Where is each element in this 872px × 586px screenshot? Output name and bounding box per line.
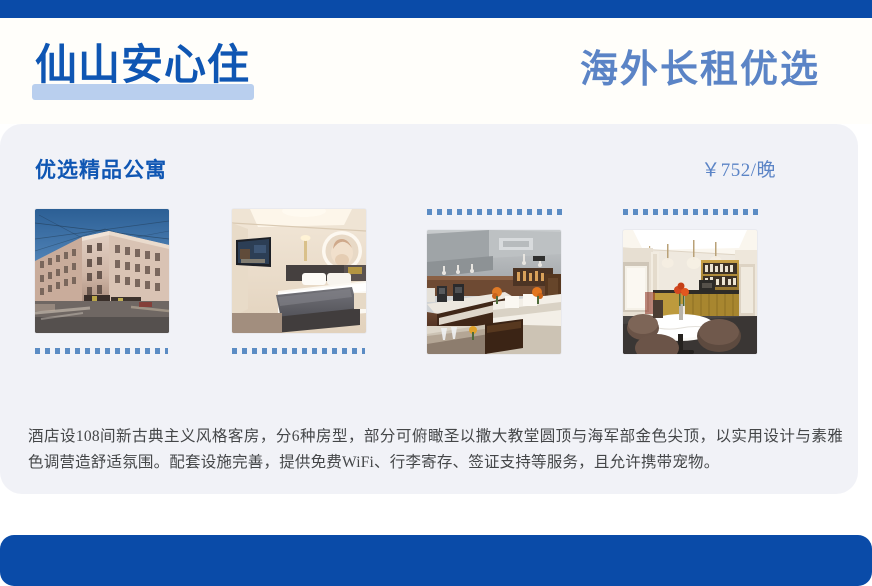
gallery-thumbnail-buffet[interactable] bbox=[427, 230, 561, 354]
dot-divider bbox=[623, 209, 758, 215]
brand-block: 仙山安心住 bbox=[35, 44, 250, 88]
gallery-thumbnail-lounge[interactable] bbox=[623, 230, 757, 354]
buffet-photo-art bbox=[427, 230, 561, 354]
page-root: 仙山安心住 海外长租优选 优选精品公寓 ￥752/晚 bbox=[0, 0, 872, 586]
lounge-photo-art bbox=[623, 230, 757, 354]
header-tagline: 海外长租优选 bbox=[580, 48, 820, 92]
brand-title: 仙山安心住 bbox=[35, 44, 250, 88]
gallery-item[interactable] bbox=[623, 209, 759, 354]
listing-card: 优选精品公寓 ￥752/晚 bbox=[0, 124, 858, 494]
page-header: 仙山安心住 海外长租优选 bbox=[0, 18, 872, 124]
gallery-item[interactable] bbox=[35, 209, 171, 354]
gallery-thumbnail-guestroom[interactable] bbox=[232, 209, 366, 333]
dot-divider bbox=[35, 348, 168, 354]
gallery-item[interactable] bbox=[427, 209, 563, 354]
gallery-item[interactable] bbox=[232, 209, 368, 354]
exterior-photo-art bbox=[35, 209, 169, 333]
guestroom-photo-art bbox=[232, 209, 366, 333]
dot-divider bbox=[427, 209, 562, 215]
gallery-thumbnail-exterior[interactable] bbox=[35, 209, 169, 333]
bottom-accent-bar bbox=[0, 535, 872, 586]
listing-description: 酒店设108间新古典主义风格客房，分6种房型，部分可俯瞰圣以撒大教堂圆顶与海军部… bbox=[28, 424, 843, 476]
top-accent-bar bbox=[0, 0, 872, 18]
dot-divider bbox=[232, 348, 365, 354]
